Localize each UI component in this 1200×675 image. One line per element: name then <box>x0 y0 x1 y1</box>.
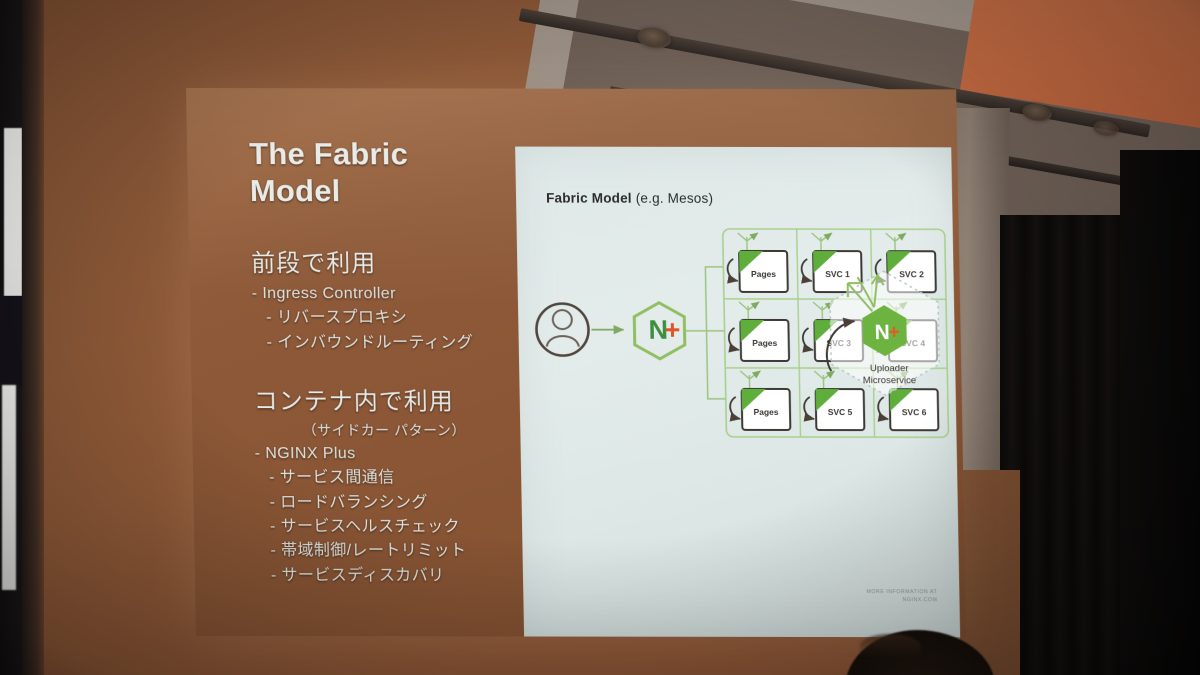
grid-cell: Pages <box>728 302 789 361</box>
uploader-microservice-node: N + Uploader Microservice <box>813 259 957 449</box>
slide-text-column: The Fabric Model 前段で利用 - Ingress Control… <box>249 136 557 588</box>
section-heading: コンテナ内で利用 <box>253 381 554 417</box>
gateway-grid-connectors <box>683 267 725 399</box>
grid-cell-label: Pages <box>751 269 777 279</box>
page-title: The Fabric Model <box>249 136 550 210</box>
bullet-item: - リバースプロキシ <box>266 307 553 332</box>
page-title-line1: The Fabric <box>249 136 550 173</box>
section-spacer <box>253 355 554 382</box>
microservice-label-line1: Uploader <box>870 363 909 374</box>
projected-slide: The Fabric Model 前段で利用 - Ingress Control… <box>186 88 966 637</box>
grid-cell: Pages <box>727 233 788 292</box>
window-light-sliver <box>2 385 16 590</box>
page-title-line2: Model <box>250 173 551 210</box>
grid-cell-label: Pages <box>752 338 778 348</box>
grid-cell: Pages <box>729 371 790 430</box>
diagram-title-bold: Fabric Model <box>546 191 632 206</box>
bullet-item: - Ingress Controller <box>252 282 553 307</box>
audience-hair-highlight <box>860 634 920 658</box>
section-subheading: （サイドカー パターン） <box>254 420 554 441</box>
footer-line-2: NGINX.COM <box>523 596 937 605</box>
diagram-panel: Fabric Model (e.g. Mesos) <box>515 147 960 638</box>
microservice-label-line2: Microservice <box>863 375 917 386</box>
nginx-plus-gateway-icon: N + <box>634 303 685 359</box>
conference-room-photo: The Fabric Model 前段で利用 - Ingress Control… <box>0 0 1200 675</box>
gateway-plus-glyph: + <box>664 315 680 345</box>
window-curtain <box>1120 150 1200 675</box>
bullet-item: - ロードバランシング <box>269 491 556 516</box>
bullet-item: - サービスディスカバリ <box>271 564 558 589</box>
left-wall-edge <box>22 0 44 675</box>
panel-footer: MORE INFORMATION AT NGINX.COM <box>523 587 937 605</box>
grid-cell-label: Pages <box>753 407 779 417</box>
bullet-item: - 帯域制御/レートリミット <box>270 539 557 564</box>
badge-plus-glyph: + <box>888 322 899 343</box>
bullet-item: - インバウンドルーティング <box>266 331 553 356</box>
bullet-item: - サービスヘルスチェック <box>270 515 557 540</box>
bullet-item: - NGINX Plus <box>255 442 556 467</box>
diagram-title-light: (e.g. Mesos) <box>636 191 714 206</box>
client-user-icon <box>536 304 589 356</box>
window-light-sliver <box>4 128 22 296</box>
diagram-title: Fabric Model (e.g. Mesos) <box>546 191 713 206</box>
section-front-tier: 前段で利用 - Ingress Controller - リバースプロキシ - … <box>251 243 553 355</box>
bullet-item: - サービス間通信 <box>269 466 556 491</box>
section-heading: 前段で利用 <box>251 243 552 279</box>
section-in-container: コンテナ内で利用 （サイドカー パターン） - NGINX Plus - サービ… <box>253 381 557 588</box>
